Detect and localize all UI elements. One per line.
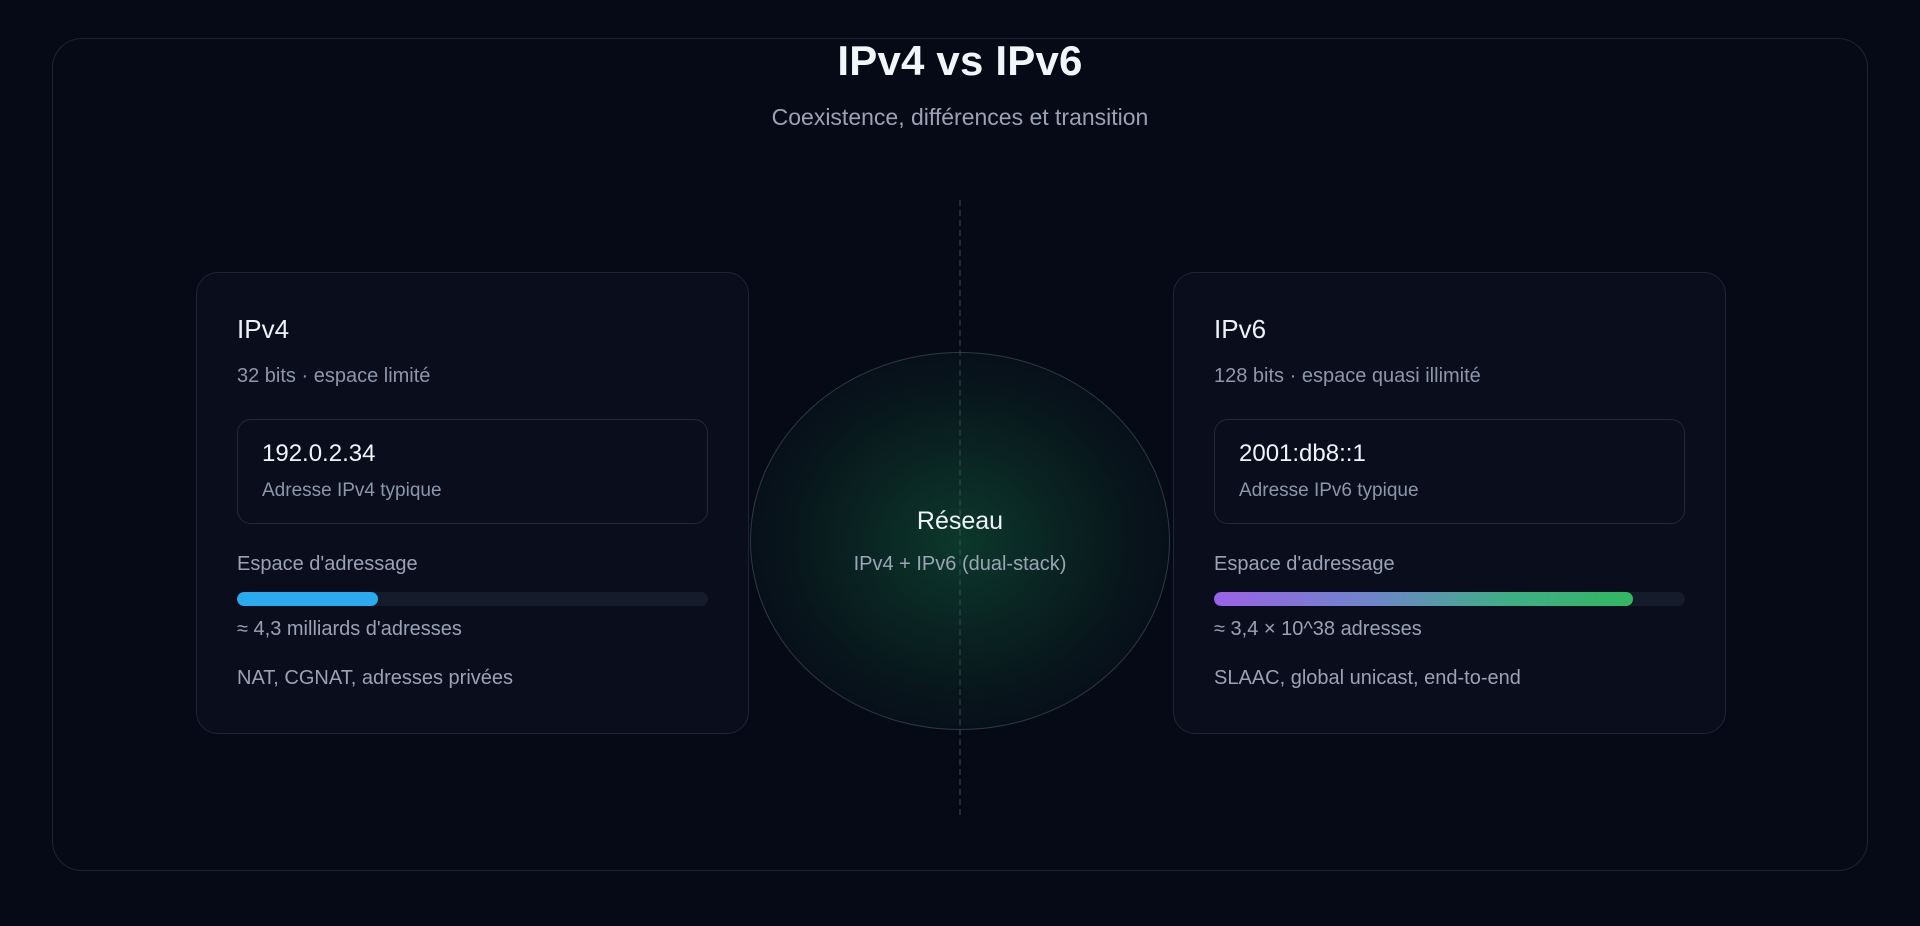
protocol-footnote: SLAAC, global unicast, end-to-end	[1214, 667, 1685, 690]
network-hub-title: Réseau	[917, 506, 1003, 536]
protocol-meta: 128 bits · espace quasi illimité	[1214, 365, 1685, 388]
network-hub: Réseau IPv4 + IPv6 (dual-stack)	[750, 352, 1170, 730]
address-label: Adresse IPv6 typique	[1239, 480, 1660, 502]
address-value: 192.0.2.34	[262, 440, 683, 468]
page-header: IPv4 vs IPv6 Coexistence, différences et…	[0, 38, 1920, 131]
address-space-note: ≈ 4,3 milliards d'adresses	[237, 618, 708, 641]
address-space-bar-track	[1214, 592, 1685, 606]
page-title: IPv4 vs IPv6	[0, 38, 1920, 84]
address-space-label: Espace d'adressage	[1214, 553, 1685, 576]
address-space-bar-track	[237, 592, 708, 606]
address-space-bar-fill	[237, 592, 378, 606]
address-space-bar-fill	[1214, 592, 1633, 606]
protocol-meta: 32 bits · espace limité	[237, 365, 708, 388]
address-value: 2001:db8::1	[1239, 440, 1660, 468]
protocol-name: IPv4	[237, 315, 708, 344]
protocol-card-ipv4: IPv4 32 bits · espace limité 192.0.2.34 …	[196, 272, 749, 734]
address-chip: 192.0.2.34 Adresse IPv4 typique	[237, 419, 708, 525]
protocol-name: IPv6	[1214, 315, 1685, 344]
protocol-footnote: NAT, CGNAT, adresses privées	[237, 667, 708, 690]
network-hub-subtitle: IPv4 + IPv6 (dual-stack)	[854, 553, 1067, 576]
address-space-label: Espace d'adressage	[237, 553, 708, 576]
address-label: Adresse IPv4 typique	[262, 480, 683, 502]
protocol-card-ipv6: IPv6 128 bits · espace quasi illimité 20…	[1173, 272, 1726, 734]
address-chip: 2001:db8::1 Adresse IPv6 typique	[1214, 419, 1685, 525]
address-space-note: ≈ 3,4 × 10^38 adresses	[1214, 618, 1685, 641]
page-subtitle: Coexistence, différences et transition	[0, 104, 1920, 131]
